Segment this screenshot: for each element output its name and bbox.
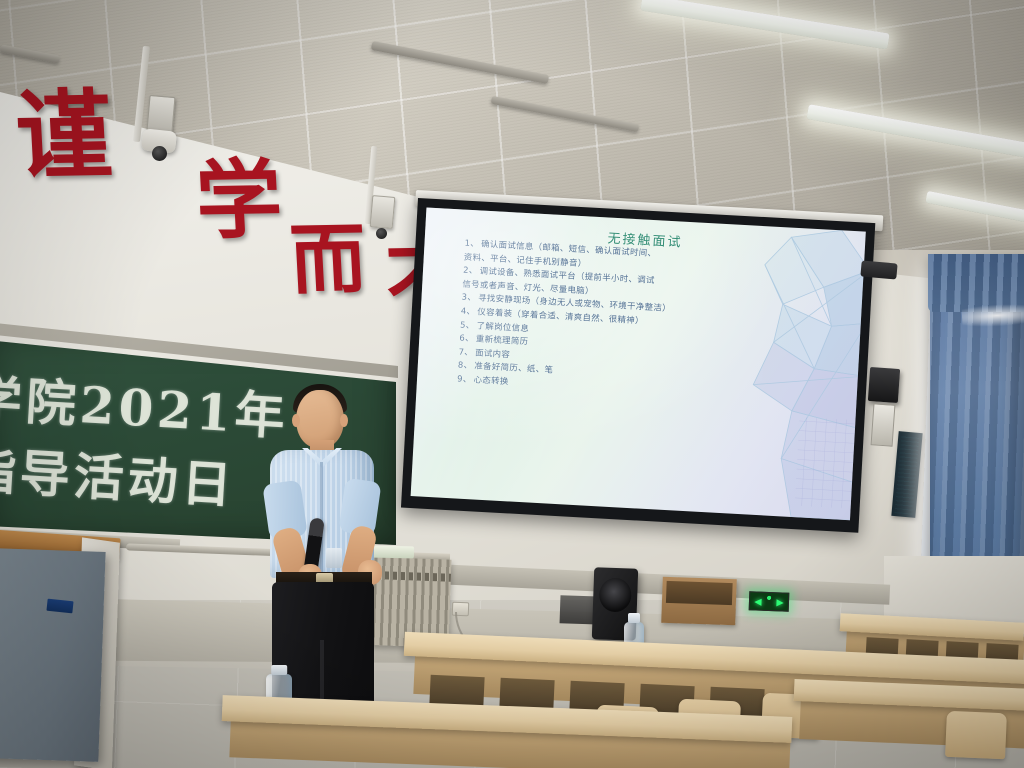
classroom-photo-scene: 谨 学 而 不 学院2021年 指导活动日 院 bbox=[0, 0, 1024, 768]
cardboard-box bbox=[661, 577, 737, 626]
wall-character-1: 谨 bbox=[13, 87, 114, 185]
camera-junction-box bbox=[146, 95, 175, 133]
slide-bullet-number: 3、 bbox=[461, 292, 476, 303]
wall-character-2: 学 bbox=[194, 157, 285, 244]
wall-control-panel[interactable] bbox=[871, 403, 896, 446]
camera-lens-icon bbox=[376, 228, 387, 239]
wall-air-vent bbox=[860, 260, 897, 279]
slide-bullet-number: 2、 bbox=[463, 265, 478, 276]
slide-bullet-number: 4、 bbox=[461, 306, 476, 317]
slide-bullet-number: 9、 bbox=[457, 374, 472, 385]
presenter-shirt-placket bbox=[320, 462, 323, 574]
camera-lens-icon bbox=[152, 146, 167, 161]
slide-bullet-number: 8、 bbox=[458, 360, 473, 371]
wall-speaker bbox=[868, 367, 900, 403]
slide-bullet-number: 7、 bbox=[458, 346, 473, 357]
running-man-icon bbox=[764, 595, 775, 608]
slide-surface: 无接触面试 1、确认面试信息（邮箱、短信、确认面试时间、 资料、平台、记住手机别… bbox=[411, 207, 866, 520]
chair[interactable] bbox=[945, 711, 1007, 759]
exit-arrow-right-icon: ► bbox=[774, 596, 786, 608]
presenter-ear bbox=[292, 414, 300, 427]
lectern-vent bbox=[85, 546, 117, 606]
bottle-cap bbox=[271, 665, 287, 675]
presenter-ear bbox=[340, 414, 348, 427]
lectern-vent bbox=[1, 573, 57, 619]
window-glare bbox=[961, 302, 1024, 329]
lectern-vent bbox=[58, 615, 89, 760]
presenter-pocket bbox=[326, 548, 342, 568]
slide-bullet-number: 6、 bbox=[459, 333, 474, 344]
blackboard-line-2: 指导活动日 bbox=[0, 430, 238, 518]
exit-sign: ◄ ► bbox=[749, 591, 790, 611]
slide-bullet-number: 1、 bbox=[464, 238, 479, 249]
wall-character-3: 而 bbox=[288, 221, 368, 298]
lectern-label bbox=[46, 599, 73, 614]
bottle-cap bbox=[628, 613, 640, 623]
wall-junction-box bbox=[370, 195, 396, 229]
slide-bullet-number: 5、 bbox=[460, 319, 475, 330]
projection-screen: 无接触面试 1、确认面试信息（邮箱、短信、确认面试时间、 资料、平台、记住手机别… bbox=[401, 198, 875, 533]
slide-bullet-list: 1、确认面试信息（邮箱、短信、确认面试时间、 资料、平台、记住手机别静音）2、调… bbox=[457, 237, 805, 405]
exit-arrow-left-icon: ◄ bbox=[752, 595, 764, 607]
